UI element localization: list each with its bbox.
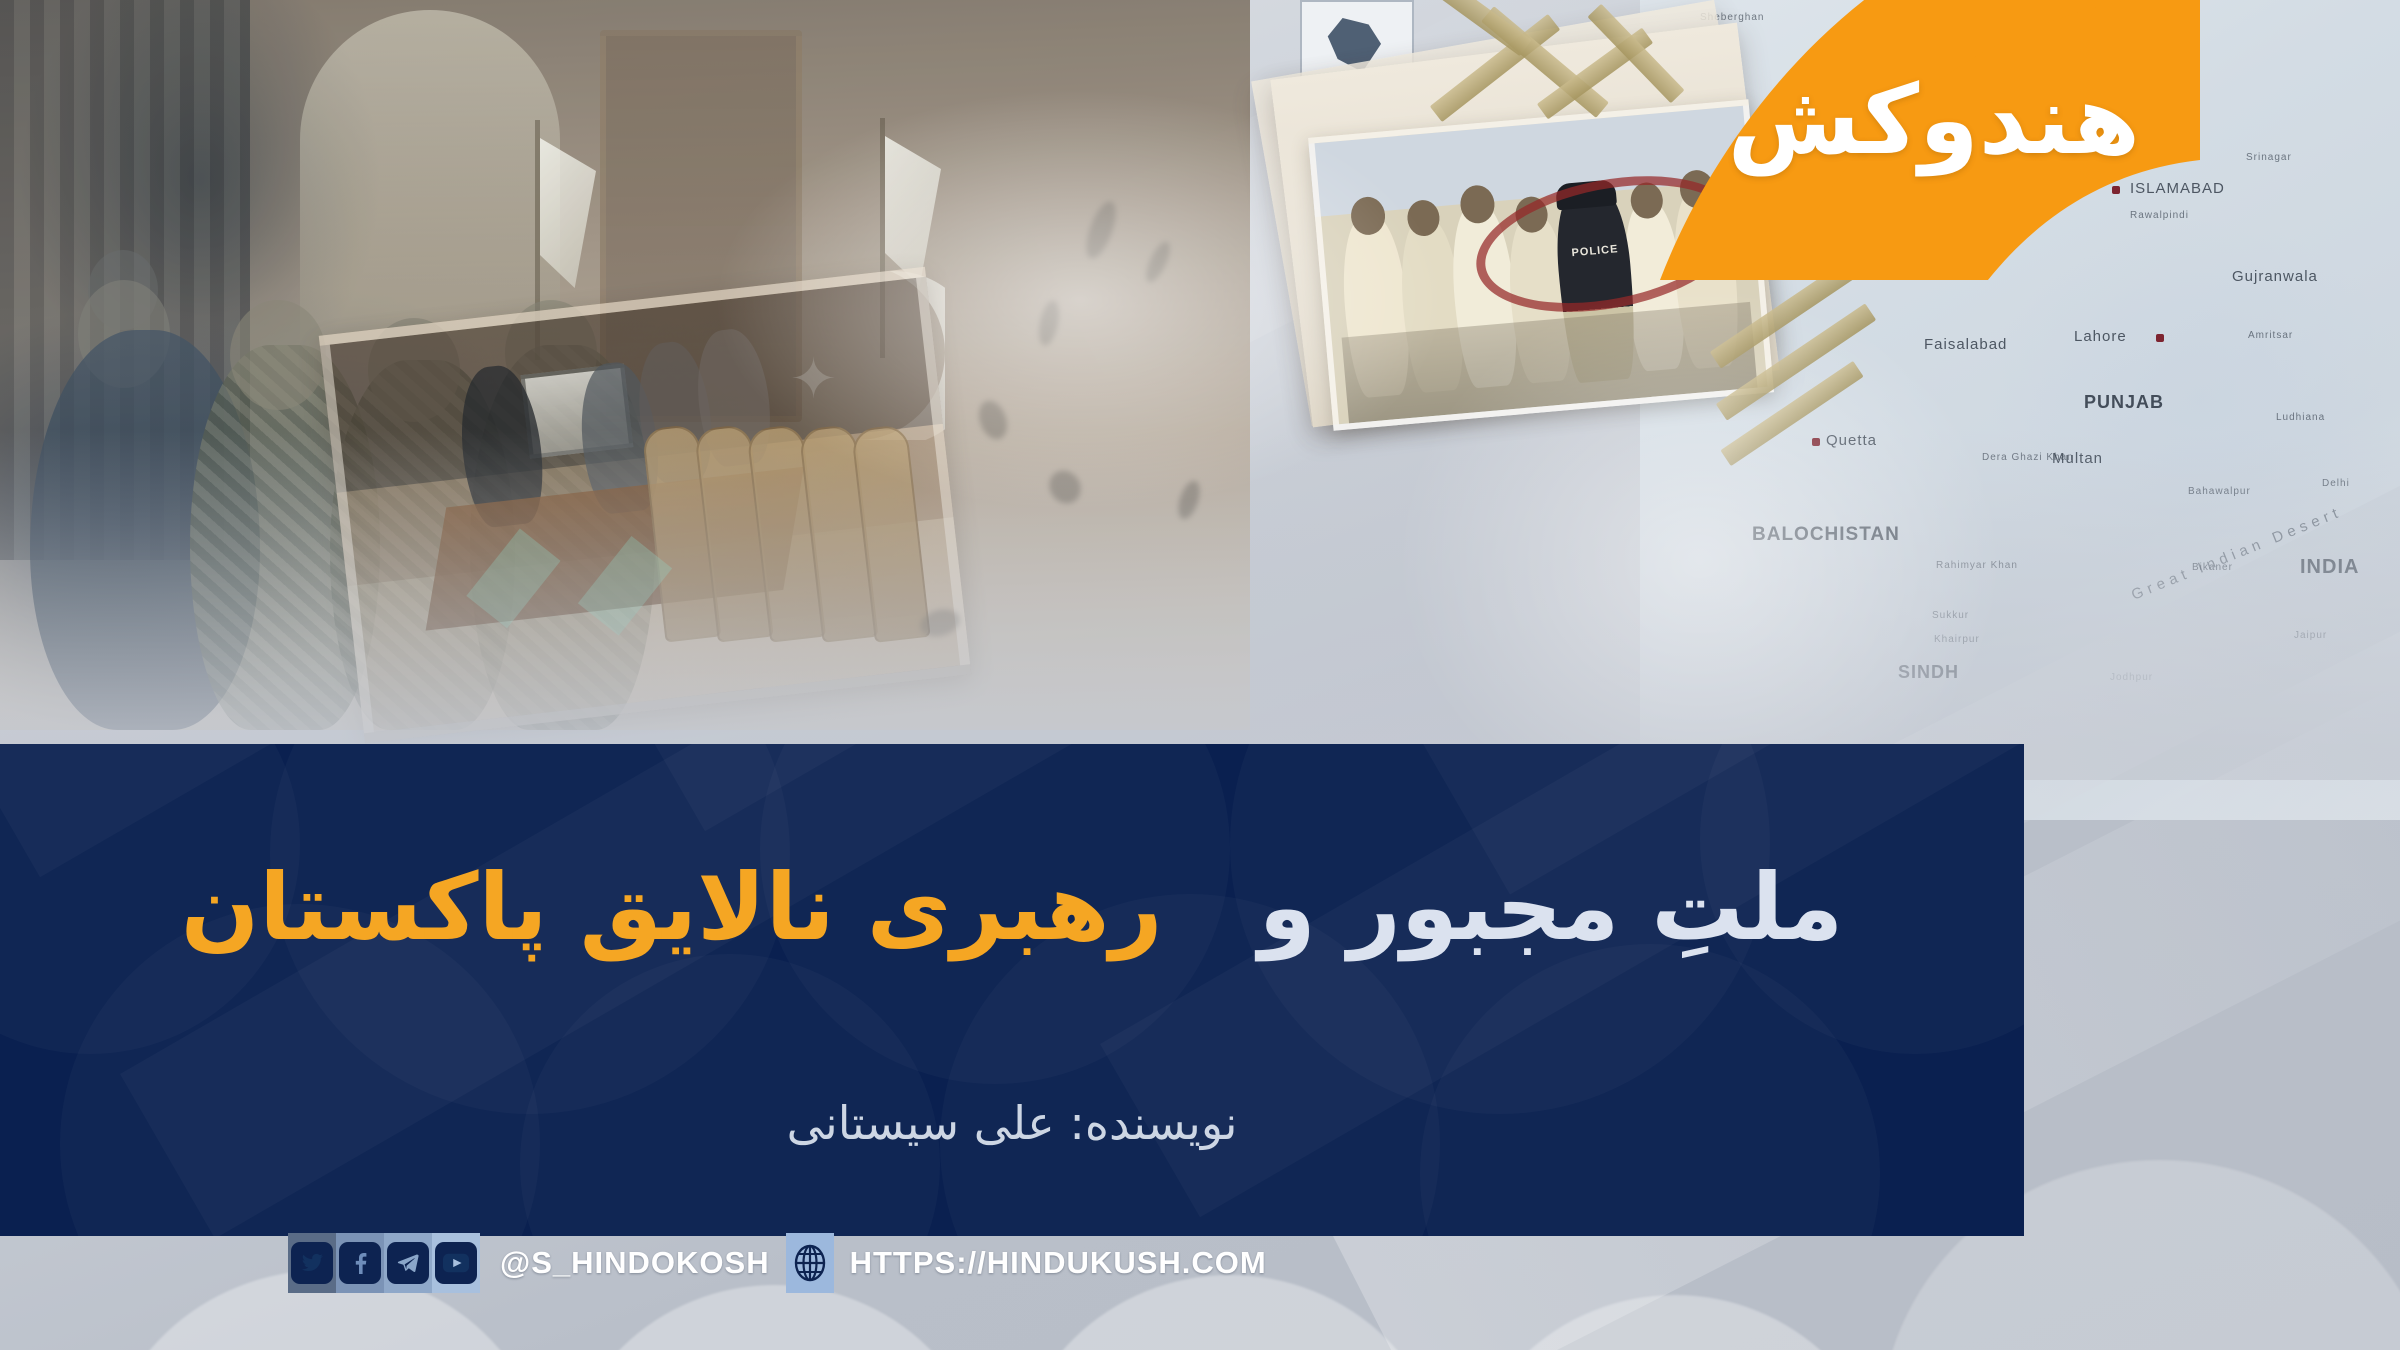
map-label: Quetta: [1826, 432, 1877, 449]
telegram-paper-plane-glyph: [396, 1251, 420, 1275]
globe-glyph: [792, 1243, 828, 1283]
photo-arch: [300, 10, 560, 340]
title-segment-accent: رهبری نالایق پاکستان: [181, 854, 1163, 961]
map-label: Faisalabad: [1924, 336, 2007, 353]
figure-head-1: [230, 300, 326, 410]
twitter-bird-glyph: [300, 1251, 324, 1275]
page-title: ملتِ مجبور و رهبری نالایق پاکستان: [0, 854, 2024, 963]
map-label: Delhi: [2322, 478, 2350, 489]
map-label: Bahawalpur: [2188, 486, 2251, 497]
photo-cabinet-meeting: [319, 267, 971, 743]
map-label: Srinagar: [2246, 152, 2292, 163]
map-label: NORTHERN AREAS: [2075, 55, 2182, 66]
map-label: Khairpur: [1934, 634, 1980, 645]
facebook-icon[interactable]: [336, 1233, 384, 1293]
youtube-icon[interactable]: [432, 1233, 480, 1293]
facebook-f-glyph: [348, 1251, 372, 1275]
map-label: Jalalabad: [1940, 132, 1992, 143]
map-label: Gujranwala: [2232, 268, 2318, 285]
poster-canvas: ✦ Sheberghan NORTHERN AREAS NORTHWEST F: [0, 0, 2400, 1350]
map-label: Dera Ghazi Khan: [1982, 452, 2074, 463]
map-label: TRIBAL AREAS: [1888, 230, 1971, 241]
map-label: AZAD Kashmir: [2110, 140, 2188, 151]
youtube-play-glyph: [443, 1253, 469, 1273]
map-label-balochistan: BALOCHISTAN: [1752, 524, 1900, 546]
social-bar: @S_HINDOKOSH HTTPS://HINDUKUSH.COM: [288, 1233, 1267, 1293]
map-label: Rawalpindi: [2130, 210, 2189, 221]
title-panel: ملتِ مجبور و رهبری نالایق پاکستان نویسند…: [0, 744, 2024, 1236]
map-label: Amritsar: [2248, 330, 2293, 341]
map-label-islamabad: ISLAMABAD: [2130, 180, 2225, 197]
title-segment-light: ملتِ مجبور و: [1259, 854, 1844, 961]
map-dot-islamabad: [2112, 186, 2120, 194]
map-label: Sukkur: [1932, 610, 1969, 621]
map-label-punjab: PUNJAB: [2084, 392, 2164, 413]
map-label: Ludhiana: [2276, 412, 2325, 423]
map-label: Bikaner: [2192, 562, 2233, 573]
map-dot-quetta: [1812, 438, 1820, 446]
globe-icon: [786, 1233, 834, 1293]
social-handle[interactable]: @S_HINDOKOSH: [500, 1245, 770, 1281]
map-label-sindh: SINDH: [1898, 662, 1959, 683]
telegram-icon[interactable]: [384, 1233, 432, 1293]
byline: نویسنده: علی سیستانی: [0, 1096, 2024, 1150]
map-label: NORTHWEST FRONTIER: [2000, 118, 2136, 129]
map-label: Lahore: [2074, 328, 2127, 345]
photo-police-crowd: POLICE: [1308, 99, 1774, 430]
twitter-icon[interactable]: [288, 1233, 336, 1293]
map-dot-lahore: [2156, 334, 2164, 342]
website-url[interactable]: HTTPS://HINDUKUSH.COM: [850, 1245, 1267, 1281]
map-label: Rahimyar Khan: [1936, 560, 2018, 571]
